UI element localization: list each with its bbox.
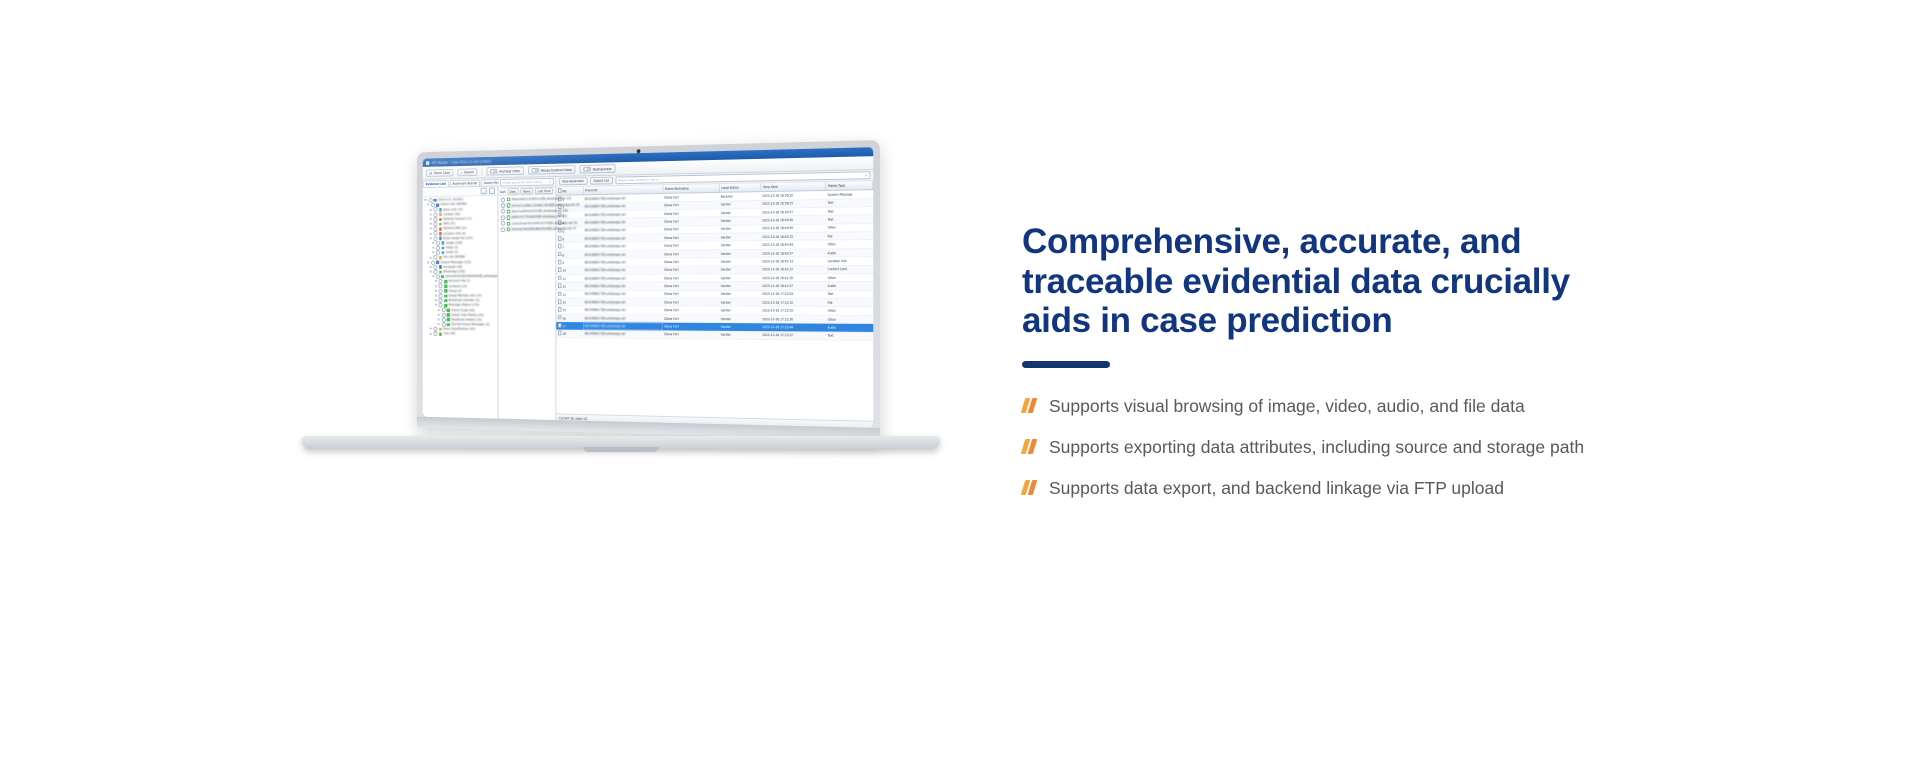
- window-title: MFI Reader - Case 2023-12-18T-455644: [432, 159, 491, 164]
- toolbar-merge-deleted-data-toggle[interactable]: Merge Deleted Data: [528, 165, 575, 175]
- table-cell-action: Sender: [719, 331, 761, 340]
- table-cell-action: Sender: [719, 241, 761, 250]
- sort-chip-name[interactable]: Name: [520, 188, 533, 195]
- laptop-mockup: MFI Reader - Case 2023-12-18T-455644 ▤ O…: [300, 140, 940, 480]
- conversation-list[interactable]: Mason4812131985123@s.whatsapp.net (13)Em…: [498, 195, 555, 421]
- tree-node-label: Line (30): [443, 332, 455, 337]
- row-checkbox[interactable]: [558, 284, 562, 288]
- expand-toggle-icon[interactable]: ⊞: [430, 332, 432, 336]
- app-body: Evidence List Bookmark Results Search Re…: [423, 170, 873, 428]
- toggle-icon: [490, 169, 498, 174]
- table-cell-media: Text: [826, 332, 873, 341]
- avatar: [506, 221, 510, 225]
- table-row[interactable]: 188610388017@s.whatsapp.netDiana FortSen…: [556, 330, 872, 341]
- tree-node-icon: [439, 232, 442, 235]
- table-cell-action: Sender: [719, 257, 761, 265]
- tree-node-icon: [439, 218, 442, 221]
- feature-bullet: Supports visual browsing of image, video…: [1022, 394, 1642, 418]
- headline-line-3: aids in case prediction: [1022, 301, 1392, 340]
- row-checkbox[interactable]: [558, 323, 562, 327]
- row-number: 12: [562, 285, 565, 289]
- tree-node-icon: [439, 237, 442, 240]
- expand-toggle-icon[interactable]: ⊞: [432, 275, 434, 279]
- expand-toggle-icon[interactable]: ⊞: [430, 213, 432, 217]
- tree-node-icon: [444, 280, 447, 283]
- table-cell-action: Sender: [719, 282, 761, 290]
- table-cell-no: 11: [556, 274, 583, 282]
- table-cell-nick: Diana Fort: [663, 290, 720, 298]
- page-title: Comprehensive, accurate, and traceable e…: [1022, 222, 1642, 341]
- expand-all-icon[interactable]: [481, 188, 487, 195]
- tree-node-label: Facebook (50): [443, 265, 462, 269]
- table-cell-media: Audio: [826, 323, 873, 332]
- row-checkbox[interactable]: [558, 315, 562, 319]
- table-cell-media: Other: [826, 307, 873, 316]
- message-table-panel: New Bookmark Export List Please enter co…: [556, 170, 873, 428]
- tree-node-icon: [439, 270, 442, 273]
- expand-toggle-icon[interactable]: ⊞: [430, 256, 432, 260]
- table-cell-no: 8: [556, 251, 583, 259]
- tree-node-icon: [439, 222, 442, 225]
- toolbar-label: Merge Deleted Data: [541, 168, 572, 172]
- copy-block: Comprehensive, accurate, and traceable e…: [1022, 222, 1642, 500]
- laptop-display: MFI Reader - Case 2023-12-18T-455644 ▤ O…: [423, 147, 873, 428]
- avatar: [506, 215, 510, 219]
- expand-toggle-icon[interactable]: ⊞: [438, 308, 440, 312]
- table-cell-no: 18: [556, 330, 583, 338]
- table-cell-time: 2023-10-18 17:22:10: [761, 298, 826, 306]
- toolbar-number-filter-toggle[interactable]: Number Filter: [487, 166, 524, 176]
- tree-node-icon: [439, 227, 442, 230]
- expand-toggle-icon[interactable]: ⊞: [430, 232, 432, 236]
- toolbar-label: Search: [464, 170, 474, 174]
- toolbar-search-button[interactable]: ⌕ Search: [457, 168, 477, 176]
- tab-bookmark-results[interactable]: Bookmark Results: [450, 179, 481, 186]
- table-cell-media: Audio: [826, 248, 873, 257]
- expand-toggle-icon[interactable]: ⊞: [438, 322, 440, 326]
- list-checkbox[interactable]: [501, 209, 505, 214]
- tree-node-icon: [444, 299, 447, 302]
- expand-toggle-icon[interactable]: ⊞: [430, 222, 432, 226]
- tree-node-icon: [439, 256, 442, 259]
- laptop-trackpad-notch: [583, 447, 659, 452]
- table-cell-action: Sender: [719, 306, 761, 314]
- feature-bullet-text: Supports data export, and backend linkag…: [1049, 476, 1504, 500]
- expand-toggle-icon[interactable]: ⊞: [432, 241, 434, 245]
- tree-checkbox[interactable]: [431, 260, 435, 265]
- tree-checkbox[interactable]: [433, 332, 437, 337]
- headline-line-2: traceable evidential data crucially: [1022, 262, 1570, 301]
- list-checkbox[interactable]: [501, 221, 505, 226]
- avatar: [506, 203, 510, 207]
- toggle-icon: [583, 166, 591, 171]
- table-cell-no: 12: [556, 282, 583, 290]
- expand-toggle-icon[interactable]: ⊞: [435, 303, 437, 307]
- laptop-base: [302, 436, 940, 460]
- clear-icon[interactable]: ⊘: [549, 180, 551, 184]
- tree-node-label: Deleted Contact (17): [443, 217, 472, 222]
- toolbar-divider: [482, 167, 483, 175]
- tree-node[interactable]: ⊞Line (30): [424, 332, 495, 337]
- header-label: No.: [562, 190, 567, 194]
- table-cell-media: Location Info: [826, 257, 873, 266]
- tree-node-icon: [444, 285, 447, 288]
- table-cell-action: Sender: [719, 266, 761, 274]
- row-checkbox[interactable]: [558, 252, 562, 256]
- row-number: 14: [562, 301, 565, 305]
- table-cell-id: 8610388017@s.whatsapp.net: [583, 298, 663, 306]
- conversation-label: Lucio Brown9913499101743@s.whatsapp.net …: [512, 221, 578, 226]
- tree-node-label: Account Info (1): [448, 279, 470, 283]
- table-cell-time: 2023-10-18 16:41:35: [761, 274, 826, 282]
- expand-toggle-icon[interactable]: ⊞: [430, 270, 432, 274]
- tree-checkbox[interactable]: [441, 308, 445, 313]
- table-cell-media: Audio: [826, 282, 873, 290]
- toolbar-open-case-button[interactable]: ▤ Open Case: [426, 168, 453, 176]
- table-cell-action: Sender: [719, 315, 761, 323]
- table-cell-nick: Diana Fort: [663, 306, 720, 314]
- table-cell-no: 17: [556, 322, 583, 330]
- tree-node-icon: [439, 208, 442, 211]
- table-cell-no: 13: [556, 290, 583, 298]
- slide-root: MFI Reader - Case 2023-12-18T-455644 ▤ O…: [0, 0, 1920, 760]
- tree-node-icon: [444, 304, 447, 307]
- evidence-tree[interactable]: ⊞20011171 (45162)⊞Phone Info (48580)⊞Bas…: [423, 196, 498, 420]
- tab-evidence-list[interactable]: Evidence List: [423, 180, 449, 187]
- table-cell-action: Sender: [719, 249, 761, 257]
- table-cell-action: Sender: [719, 274, 761, 282]
- table-cell-nick: Diana Fort: [663, 258, 720, 266]
- table-cell-action: Sender: [719, 298, 761, 306]
- clear-icon[interactable]: ⊘: [865, 173, 867, 177]
- table-cell-no: 7: [556, 243, 583, 251]
- export-list-button[interactable]: Export List: [590, 177, 612, 185]
- sort-chip-date[interactable]: Date: [507, 188, 518, 195]
- double-slash-bullet-icon: [1022, 396, 1039, 417]
- tree-node-icon: [447, 309, 450, 312]
- evidence-tree-panel: Evidence List Bookmark Results Search Re…: [423, 178, 499, 419]
- list-checkbox[interactable]: [501, 215, 505, 220]
- row-checkbox[interactable]: [558, 236, 562, 240]
- table-cell-no: 16: [556, 314, 583, 322]
- table-cell-media: Other: [826, 315, 873, 324]
- table-cell-nick: Diana Fort: [663, 282, 720, 290]
- row-number: 10: [562, 269, 565, 273]
- table-cell-id: 8610388017@s.whatsapp.net: [583, 282, 663, 290]
- tree-node-label: Broadcast member (4): [448, 298, 479, 302]
- table-row[interactable]: 128610388017@s.whatsapp.netDiana FortSen…: [556, 282, 872, 290]
- table-cell-nick: Diana Fort: [663, 274, 720, 282]
- toggle-icon: [531, 168, 539, 173]
- expand-toggle-icon[interactable]: ⊞: [430, 208, 432, 212]
- table-cell-id: 8610388017@s.whatsapp.net: [583, 290, 663, 298]
- toolbar-deduplicate-toggle[interactable]: Deduplicate: [580, 164, 616, 174]
- row-number: 13: [562, 293, 565, 297]
- table-cell-id: 8610388017@s.whatsapp.net: [583, 274, 663, 282]
- app-screen: MFI Reader - Case 2023-12-18T-455644 ▤ O…: [423, 147, 873, 428]
- expand-toggle-icon[interactable]: ⊞: [432, 246, 434, 250]
- row-number: 17: [562, 325, 565, 329]
- filter-placeholder: Please specify the filter criteria: [503, 180, 543, 185]
- table-cell-action: Sender: [719, 323, 761, 331]
- expand-toggle-icon[interactable]: ⊞: [430, 236, 432, 240]
- tree-node-icon: [436, 203, 439, 206]
- conversation-list-panel: Please specify the filter criteria ⊘ Sor…: [498, 177, 556, 421]
- tree-node-icon: [436, 261, 439, 264]
- table-cell-id: 8610388017@s.whatsapp.net: [583, 266, 663, 274]
- row-number: 7: [562, 246, 564, 250]
- expand-toggle-icon[interactable]: ⊞: [424, 198, 426, 202]
- laptop-lid: MFI Reader - Case 2023-12-18T-455644 ▤ O…: [417, 140, 880, 440]
- tree-node-icon: [439, 332, 442, 335]
- sort-label: Sort: [500, 190, 506, 194]
- double-slash-bullet-icon: [1022, 478, 1039, 499]
- row-checkbox[interactable]: [558, 260, 562, 264]
- avatar: [506, 227, 510, 231]
- feature-bullet: Supports data export, and backend linkag…: [1022, 476, 1642, 500]
- tree-node-label: Image (190): [446, 241, 463, 246]
- tree-node-icon: [441, 275, 444, 278]
- tree-node-icon: [441, 242, 444, 245]
- title-underline-rule: [1022, 361, 1110, 368]
- row-checkbox[interactable]: [558, 276, 562, 280]
- new-bookmark-button[interactable]: New Bookmark: [559, 177, 588, 185]
- row-number: 9: [562, 261, 564, 265]
- double-slash-bullet-icon: [1022, 437, 1039, 458]
- tree-node-icon: [444, 294, 447, 297]
- expand-toggle-icon[interactable]: ⊞: [430, 265, 432, 269]
- magnifier-icon: ⌕: [461, 170, 463, 174]
- feature-bullet-list: Supports visual browsing of image, video…: [1022, 394, 1642, 500]
- feature-bullet: Supports exporting data attributes, incl…: [1022, 435, 1642, 459]
- expand-toggle-icon[interactable]: ⊞: [430, 217, 432, 221]
- toolbar-label: Deduplicate: [593, 167, 612, 171]
- table-cell-nick: Diana Fort: [663, 298, 720, 306]
- tree-node-label: JamesSmith0000000000@s.whatsapp.net: [445, 274, 497, 279]
- tree-node-icon: [447, 318, 450, 321]
- table-cell-nick: Diana Fort: [663, 266, 720, 274]
- tree-node-label: Contacts (14): [448, 284, 467, 288]
- table-cell-media: Other: [826, 240, 873, 249]
- row-number: 11: [562, 277, 565, 281]
- table-cell-nick: Diana Fort: [663, 330, 720, 339]
- tree-checkbox[interactable]: [441, 313, 445, 318]
- toolbar-label: Open Case: [434, 170, 450, 174]
- conversation-label: Amanda Reed98148003418@s.whatsapp.net (7…: [512, 227, 577, 232]
- tree-checkbox[interactable]: [433, 236, 437, 241]
- row-number: 18: [562, 332, 565, 336]
- row-number: 15: [562, 309, 565, 313]
- table-cell-time: 2023-10-18 17:23:37: [761, 331, 826, 340]
- tree-node-icon: [447, 323, 450, 326]
- app-logo-icon: [426, 161, 429, 165]
- row-number: 16: [562, 317, 565, 321]
- table-search-placeholder: Please enter content for list to: [618, 178, 658, 183]
- tree-node-icon: [439, 213, 442, 216]
- tree-node-label: Group Member Info (15): [448, 294, 481, 298]
- table-cell-time: 2023-10-18 16:41:22: [761, 265, 826, 273]
- table-cell-media: Text: [826, 290, 873, 298]
- tree-node-label: WhatsApp (230): [443, 270, 465, 274]
- expand-toggle-icon[interactable]: ⊞: [438, 318, 440, 322]
- feature-bullet-text: Supports exporting data attributes, incl…: [1049, 435, 1584, 459]
- list-checkbox[interactable]: [501, 197, 505, 202]
- table-cell-no: 14: [556, 298, 583, 306]
- table-cell-no: 10: [556, 266, 583, 274]
- collapse-all-icon[interactable]: [489, 188, 495, 195]
- table-cell-media: Other: [826, 273, 873, 281]
- expand-toggle-icon[interactable]: ⊞: [430, 327, 432, 331]
- select-all-checkbox[interactable]: [558, 188, 562, 192]
- table-cell-no: 15: [556, 306, 583, 314]
- table-cell-time: 2023-10-18 17:22:03: [761, 290, 826, 298]
- expand-toggle-icon[interactable]: ⊞: [430, 227, 432, 231]
- list-checkbox[interactable]: [501, 203, 505, 208]
- tree-node-icon: [439, 328, 442, 331]
- sort-chip-last-time[interactable]: Last Time: [535, 187, 553, 194]
- row-checkbox[interactable]: [558, 244, 562, 248]
- table-cell-no: 9: [556, 258, 583, 266]
- tree-node-icon: [447, 313, 450, 316]
- row-checkbox[interactable]: [558, 299, 562, 303]
- folder-icon: ▤: [429, 171, 432, 175]
- expand-toggle-icon[interactable]: ⊞: [427, 260, 429, 264]
- list-checkbox[interactable]: [501, 227, 505, 232]
- tree-node-icon: [434, 199, 437, 202]
- row-checkbox[interactable]: [558, 331, 562, 335]
- tree-node-icon: [441, 251, 444, 254]
- row-number: 8: [562, 253, 564, 257]
- tree-node-icon: [441, 246, 444, 249]
- headline-line-1: Comprehensive, accurate, and: [1022, 222, 1521, 261]
- row-checkbox[interactable]: [558, 268, 562, 272]
- row-checkbox[interactable]: [558, 307, 562, 311]
- expand-toggle-icon[interactable]: ⊞: [435, 279, 437, 283]
- table-cell-id: 8610388017@s.whatsapp.net: [583, 330, 663, 339]
- expand-toggle-icon[interactable]: ⊞: [435, 298, 437, 302]
- table-cell-media: File: [826, 298, 873, 306]
- conversation-label: JLW6131275248905@s.whatsapp.net (15): [512, 215, 568, 220]
- tree-node-icon: [439, 265, 442, 268]
- expand-toggle-icon[interactable]: ⊞: [438, 313, 440, 317]
- tree-node-icon: [444, 289, 447, 292]
- table-cell-time: 2023-10-18 16:41:13: [761, 257, 826, 266]
- list-item[interactable]: Amanda Reed98148003418@s.whatsapp.net (7…: [499, 226, 554, 233]
- avatar: [506, 198, 510, 202]
- feature-bullet-text: Supports visual browsing of image, video…: [1049, 394, 1525, 418]
- expand-toggle-icon[interactable]: ⊞: [427, 203, 429, 207]
- tree-node-label: Instant Message (319): [440, 260, 471, 265]
- table-cell-media: Contact Card: [826, 265, 873, 274]
- toolbar-label: Number Filter: [499, 169, 520, 173]
- message-table[interactable]: No.Friend IDFriend NicknameLocal ActionT…: [556, 181, 873, 341]
- filter-input[interactable]: Please specify the filter criteria ⊘: [500, 178, 554, 186]
- table-cell-no: 6: [556, 235, 583, 243]
- tree-node-label: Group (4): [448, 289, 461, 293]
- table-cell-action: Sender: [719, 290, 761, 298]
- table-cell-time: 2023-10-18 17:22:29: [761, 307, 826, 315]
- expand-toggle-icon[interactable]: ⊞: [435, 289, 437, 293]
- expand-toggle-icon[interactable]: ⊞: [435, 294, 437, 298]
- row-checkbox[interactable]: [558, 291, 562, 295]
- avatar: [506, 209, 510, 213]
- table-body[interactable]: 18610388017@s.whatsapp.netDiana FortRece…: [556, 190, 872, 341]
- expand-toggle-icon[interactable]: ⊞: [435, 284, 437, 288]
- row-number: 6: [562, 238, 564, 242]
- table-cell-time: 2023-10-18 16:41:57: [761, 282, 826, 290]
